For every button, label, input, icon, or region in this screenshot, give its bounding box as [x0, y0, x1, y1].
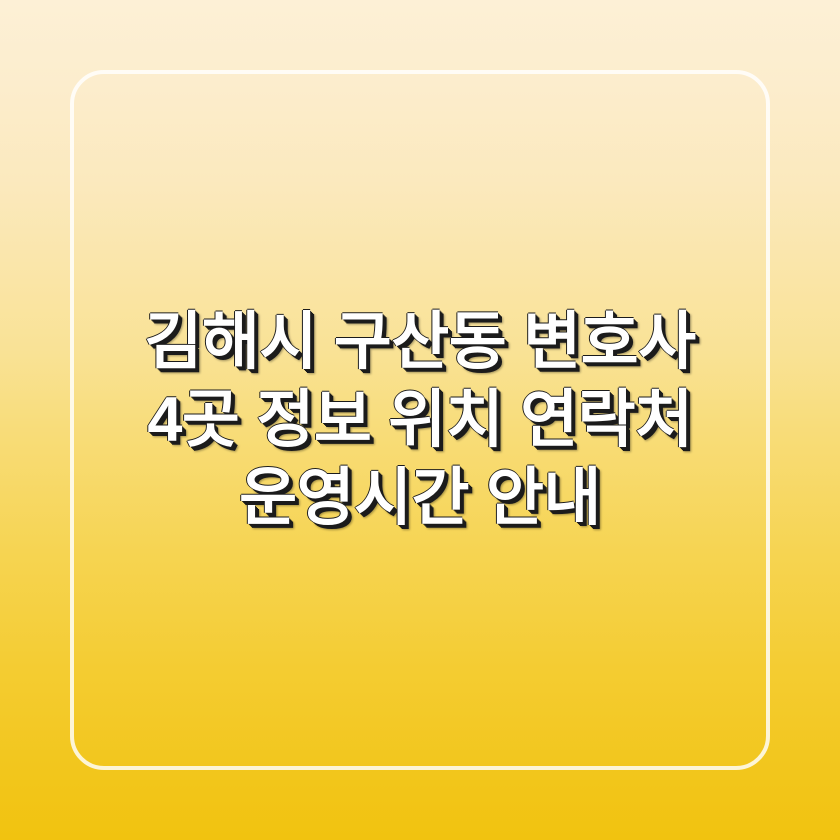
- title-block: 김해시 구산동 변호사 4곳 정보 위치 연락처 운영시간 안내: [0, 0, 840, 840]
- title-line-2: 4곳 정보 위치 연락처: [86, 381, 754, 459]
- title-line-3: 운영시간 안내: [86, 459, 754, 537]
- title-line-1: 김해시 구산동 변호사: [86, 303, 754, 381]
- poster-canvas: 김해시 구산동 변호사 4곳 정보 위치 연락처 운영시간 안내: [0, 0, 840, 840]
